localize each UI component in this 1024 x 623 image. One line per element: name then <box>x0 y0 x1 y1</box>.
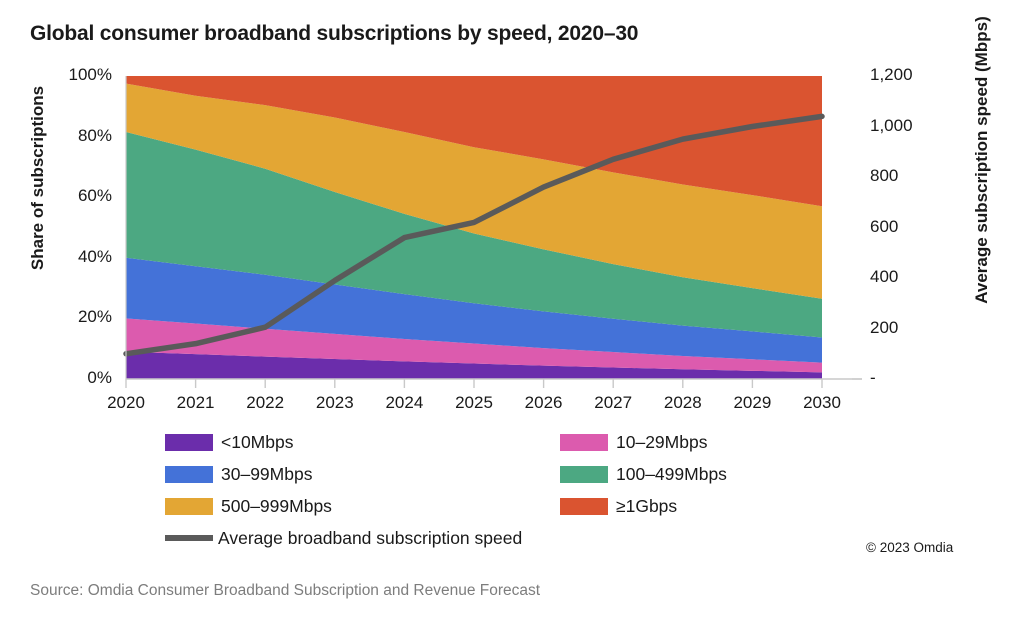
legend-item-label: <10Mbps <box>221 432 293 453</box>
legend-item-label: ≥1Gbps <box>616 496 677 517</box>
legend-item[interactable]: ≥1Gbps <box>560 492 860 520</box>
legend-item-label: 100–499Mbps <box>616 464 727 485</box>
legend-row: <10Mbps10–29Mbps <box>165 428 865 460</box>
legend-item[interactable]: 30–99Mbps <box>165 460 560 488</box>
legend-color-swatch-icon <box>165 466 213 483</box>
legend-item-label: 500–999Mbps <box>221 496 332 517</box>
legend-item[interactable]: Average broadband subscription speed <box>165 524 560 552</box>
legend-line-swatch-icon <box>165 535 213 541</box>
legend-item-label: 30–99Mbps <box>221 464 312 485</box>
chart-figure: Global consumer broadband subscriptions … <box>0 0 1024 623</box>
source-note: Source: Omdia Consumer Broadband Subscri… <box>30 582 540 600</box>
legend-color-swatch-icon <box>560 434 608 451</box>
legend-item-label: Average broadband subscription speed <box>218 528 522 549</box>
legend-item[interactable]: 100–499Mbps <box>560 460 860 488</box>
legend-color-swatch-icon <box>560 498 608 515</box>
chart-legend: <10Mbps10–29Mbps30–99Mbps100–499Mbps500–… <box>165 428 865 556</box>
legend-item[interactable]: <10Mbps <box>165 428 560 456</box>
legend-item-label: 10–29Mbps <box>616 432 707 453</box>
legend-color-swatch-icon <box>165 434 213 451</box>
legend-color-swatch-icon <box>560 466 608 483</box>
legend-item[interactable]: 500–999Mbps <box>165 492 560 520</box>
legend-row: 500–999Mbps≥1Gbps <box>165 492 865 524</box>
copyright-note: © 2023 Omdia <box>866 540 953 555</box>
legend-item[interactable]: 10–29Mbps <box>560 428 860 456</box>
legend-row: 30–99Mbps100–499Mbps <box>165 460 865 492</box>
legend-row: Average broadband subscription speed <box>165 524 865 556</box>
legend-color-swatch-icon <box>165 498 213 515</box>
